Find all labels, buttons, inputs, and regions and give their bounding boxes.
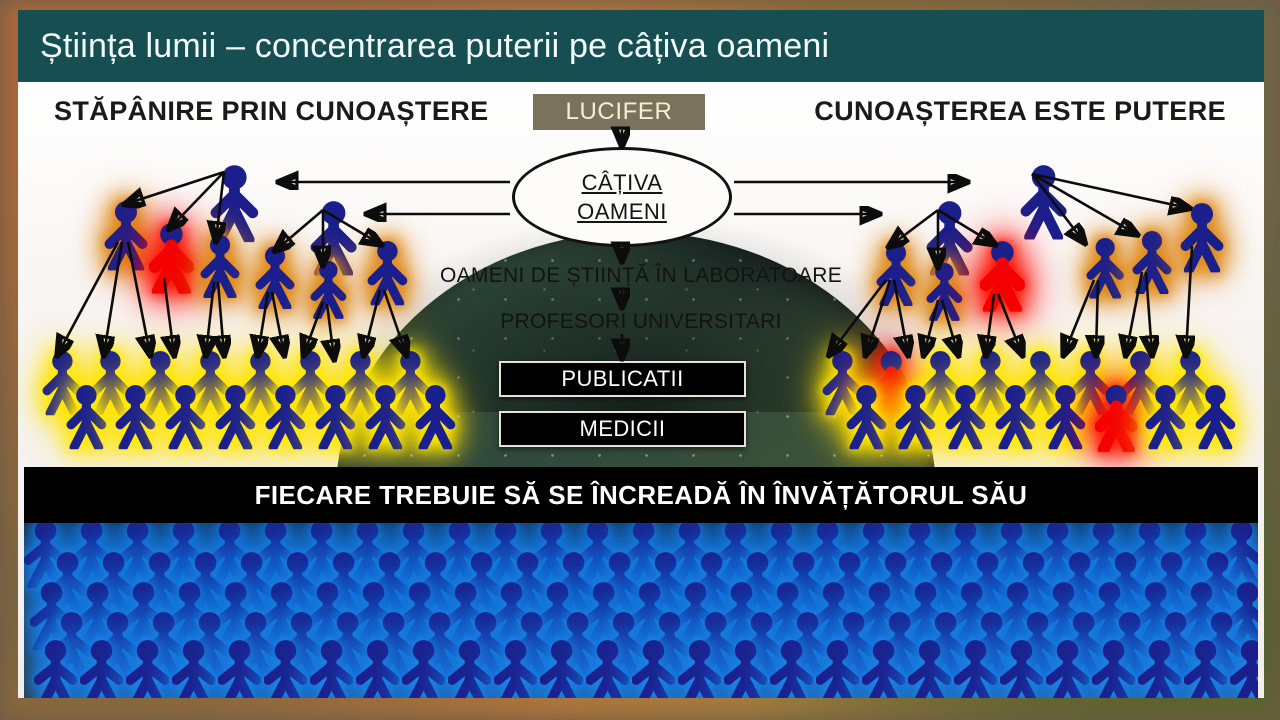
stick-figure: [200, 234, 240, 298]
crowd-stick-figure: [586, 639, 629, 698]
crowd-stick-figure: [80, 639, 123, 698]
crowd-stick-figure: [172, 639, 215, 698]
stick-figure: [1132, 230, 1172, 294]
lucifer-label-box: LUCIFER: [533, 94, 705, 130]
crowd-stick-figure: [770, 639, 813, 698]
slide: Știința lumii – concentrarea puterii pe …: [18, 10, 1264, 698]
page-title: Știința lumii – concentrarea puterii pe …: [40, 27, 829, 66]
stick-figure-red: [149, 222, 194, 294]
crowd-stick-figure: [264, 639, 307, 698]
stick-figure: [310, 260, 347, 319]
crowd-stick-figure: [1092, 639, 1135, 698]
stick-figure: [210, 164, 259, 242]
oval-line-2: OAMENI: [577, 199, 667, 225]
crowd-stick-figure: [1184, 639, 1227, 698]
stick-figure: [165, 384, 206, 449]
stick-figure: [895, 384, 936, 449]
crowd-stick-figure: [540, 639, 583, 698]
stick-figure: [876, 242, 916, 306]
doctors-label: MEDICII: [580, 416, 666, 442]
stick-figure: [1045, 384, 1086, 449]
crowd-stick-figure: [34, 639, 77, 698]
crowd-stick-figure: [678, 639, 721, 698]
crowd-stick-figure: [356, 639, 399, 698]
stick-figure: [1195, 384, 1236, 449]
crowd-stick-figure: [126, 639, 169, 698]
cativa-oameni-oval: CÂȚIVA OAMENI: [512, 147, 732, 247]
stick-figure: [995, 384, 1036, 449]
crowd-stick-figure: [1046, 639, 1089, 698]
stick-figure: [265, 384, 306, 449]
crowd-stick-figure: [218, 639, 261, 698]
stick-figure: [1145, 384, 1186, 449]
stick-figure: [1180, 202, 1224, 272]
publications-label: PUBLICATII: [561, 366, 683, 392]
crowd-stick-figure: [1138, 639, 1181, 698]
stick-figure-red: [1095, 384, 1137, 452]
stick-figure: [1020, 164, 1067, 240]
crowd-stick-figure: [310, 639, 353, 698]
oval-line-1: CÂȚIVA: [582, 170, 663, 196]
lucifer-label: LUCIFER: [566, 98, 673, 126]
crowd-stick-figure: [862, 639, 905, 698]
stick-figure: [115, 384, 156, 449]
title-bar: Știința lumii – concentrarea puterii pe …: [18, 10, 1264, 82]
stick-figure: [945, 384, 986, 449]
diagram-canvas: STĂPÂNIRE PRIN CUNOAȘTERE CUNOAȘTEREA ES…: [18, 82, 1264, 698]
stick-figure: [315, 384, 356, 449]
stick-figure: [846, 384, 887, 449]
crowd-stick-figure: [448, 639, 491, 698]
stick-figure: [255, 245, 295, 309]
crowd-stick-figure: [954, 639, 997, 698]
heading-left: STĂPÂNIRE PRIN CUNOAȘTERE: [54, 96, 489, 127]
crowd-stick-figure: [724, 639, 767, 698]
stick-figure: [104, 200, 148, 270]
crowd-stick-figure: [632, 639, 675, 698]
crowd-stick-figure: [1230, 639, 1258, 698]
stick-figure: [367, 240, 408, 305]
stick-figure: [1086, 237, 1124, 298]
crowd-stick-figure: [494, 639, 537, 698]
stick-figure: [365, 384, 406, 449]
crowd-stick-figure: [1000, 639, 1043, 698]
box-publications: PUBLICATII: [499, 361, 746, 397]
crowd-stick-figure: [908, 639, 951, 698]
banner-trust-label: FIECARE TREBUIE SĂ SE ÎNCREADĂ ÎN ÎNVĂȚĂ…: [255, 480, 1028, 511]
stick-figure: [415, 384, 456, 449]
crowd-stick-figure: [402, 639, 445, 698]
crowd-stick-figure: [816, 639, 859, 698]
heading-right: CUNOAȘTEREA ESTE PUTERE: [814, 96, 1226, 127]
banner-trust-your-teacher: FIECARE TREBUIE SĂ SE ÎNCREADĂ ÎN ÎNVĂȚĂ…: [24, 467, 1258, 523]
box-doctors: MEDICII: [499, 411, 746, 447]
crowd-band: [24, 523, 1258, 698]
stick-figure: [215, 384, 256, 449]
stick-figure-red: [980, 240, 1025, 312]
stick-figure: [66, 384, 107, 449]
stick-figure: [926, 262, 963, 321]
label-professors: PROFESORI UNIVERSITARI: [18, 310, 1264, 334]
